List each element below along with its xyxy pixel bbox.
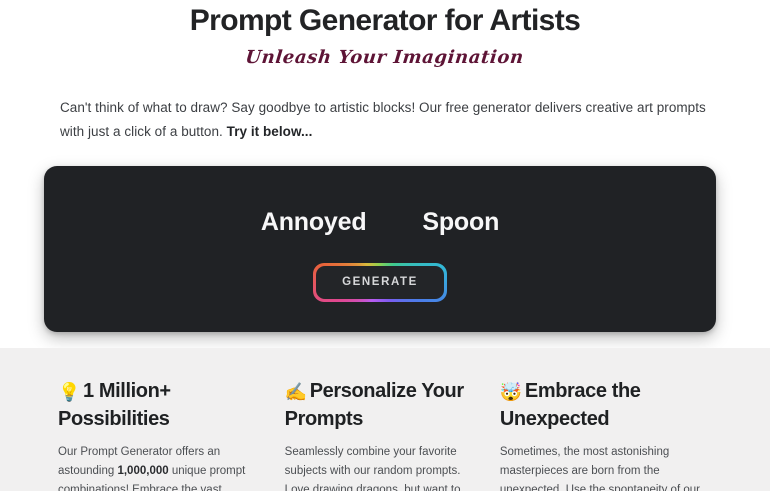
page-title: Prompt Generator for Artists [0, 0, 770, 38]
prompt-word-row: Annoyed Spoon [261, 208, 499, 236]
intro-paragraph: Can't think of what to draw? Say goodbye… [0, 69, 770, 144]
light-bulb-icon: 💡 [58, 382, 80, 403]
features-grid: 💡1 Million+ Possibilities Our Prompt Gen… [58, 378, 720, 491]
features-section: 💡1 Million+ Possibilities Our Prompt Gen… [0, 348, 770, 491]
feature-heading-text: Personalize Your Prompts [285, 380, 464, 430]
feature-heading: ✍️Personalize Your Prompts [285, 378, 476, 432]
feature-heading: 🤯Embrace the Unexpected [500, 378, 714, 432]
page-subtitle: Unleash Your Imagination [0, 38, 770, 69]
hero-section: Prompt Generator for Artists Unleash You… [0, 0, 770, 332]
generator-wrapper: Annoyed Spoon GENERATE [0, 144, 770, 332]
generate-button[interactable]: GENERATE [313, 263, 447, 302]
intro-text: Can't think of what to draw? Say goodbye… [60, 100, 706, 139]
exploding-head-icon: 🤯 [500, 382, 522, 403]
feature-body: Seamlessly combine your favorite subject… [285, 432, 476, 491]
writing-hand-icon: ✍️ [285, 382, 307, 403]
feature-body-before: Sometimes, the most astonishing masterpi… [500, 446, 700, 491]
feature-body-before: Seamlessly combine your favorite subject… [285, 446, 475, 491]
feature-card-personalize: ✍️Personalize Your Prompts Seamlessly co… [285, 378, 500, 491]
page-root: Prompt Generator for Artists Unleash You… [0, 0, 770, 491]
feature-body: Sometimes, the most astonishing masterpi… [500, 432, 714, 491]
feature-heading: 💡1 Million+ Possibilities [58, 378, 261, 432]
feature-card-unexpected: 🤯Embrace the Unexpected Sometimes, the m… [500, 378, 720, 491]
generator-panel: Annoyed Spoon GENERATE [44, 166, 716, 332]
feature-body-bold: 1,000,000 [117, 465, 168, 477]
generate-button-label: GENERATE [316, 266, 444, 299]
prompt-word-1[interactable]: Annoyed [261, 208, 367, 236]
feature-card-possibilities: 💡1 Million+ Possibilities Our Prompt Gen… [58, 378, 285, 491]
prompt-word-2[interactable]: Spoon [422, 208, 499, 236]
intro-cta-text: Try it below... [227, 124, 313, 139]
feature-body: Our Prompt Generator offers an astoundin… [58, 432, 261, 491]
